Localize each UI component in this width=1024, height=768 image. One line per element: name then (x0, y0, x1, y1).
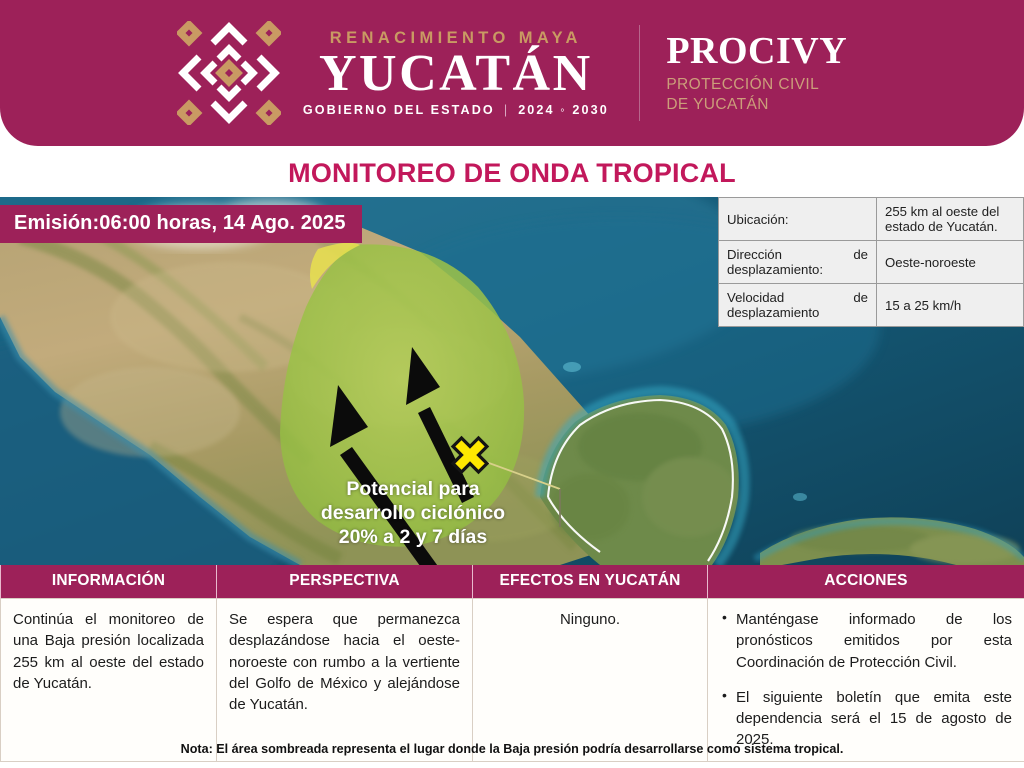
list-item: Manténgase informado de los pronósticos … (720, 609, 1012, 673)
info-value-ubicacion: 255 km al oeste del estado de Yucatán. (877, 198, 1024, 241)
cone-label-line-3: 20% a 2 y 7 días (300, 526, 526, 550)
maya-pattern-logo (177, 21, 281, 125)
emission-banner: Emisión:06:00 horas, 14 Ago. 2025 (0, 205, 362, 243)
bulletin-page: RENACIMIENTO MAYA YUCATÁN GOBIERNO DEL E… (0, 0, 1024, 768)
info-key-ubicacion: Ubicación: (719, 198, 877, 241)
summary-table: INFORMACIÓN PERSPECTIVA EFECTOS EN YUCAT… (0, 565, 1024, 762)
agency-subtitle-line2: DE YUCATÁN (666, 95, 847, 114)
header-divider (639, 25, 641, 121)
footer-note: Nota: El área sombreada representa el lu… (0, 742, 1024, 756)
agency-acronym: PROCIVY (666, 32, 847, 70)
table-row: Velocidad de desplazamiento 15 a 25 km/h (719, 284, 1024, 327)
brand-separator: | (504, 103, 509, 117)
summary-table-header-row: INFORMACIÓN PERSPECTIVA EFECTOS EN YUCAT… (1, 565, 1024, 599)
storm-info-table: Ubicación: 255 km al oeste del estado de… (718, 197, 1024, 327)
cone-label-line-1: Potencial para (300, 478, 526, 502)
brand-state-name: YUCATÁN (319, 49, 593, 100)
acciones-list: Manténgase informado de los pronósticos … (720, 609, 1012, 751)
brand-years: 2024 ◦ 2030 (518, 103, 609, 117)
column-header-perspectiva: PERSPECTIVA (217, 565, 473, 599)
cell-informacion: Continúa el monitoreo de una Baja presió… (1, 599, 217, 762)
cell-acciones: Manténgase informado de los pronósticos … (708, 599, 1024, 762)
satellite-map: Emisión:06:00 horas, 14 Ago. 2025 Potenc… (0, 197, 1024, 565)
cone-label-line-2: desarrollo ciclónico (300, 502, 526, 526)
cone-probability-label: Potencial para desarrollo ciclónico 20% … (300, 478, 526, 549)
column-header-informacion: INFORMACIÓN (1, 565, 217, 599)
info-value-velocidad: 15 a 25 km/h (877, 284, 1024, 327)
cell-perspectiva: Se espera que permanezca desplazándose h… (217, 599, 473, 762)
brand-government-line: GOBIERNO DEL ESTADO | 2024 ◦ 2030 (303, 103, 609, 117)
agency-subtitle-line1: PROTECCIÓN CIVIL (666, 75, 847, 94)
info-key-velocidad: Velocidad de desplazamiento (719, 284, 877, 327)
info-key-direccion: Dirección de desplazamiento: (719, 241, 877, 284)
column-header-efectos: EFECTOS EN YUCATÁN (473, 565, 708, 599)
column-header-acciones: ACCIONES (708, 565, 1024, 599)
agency-brand: PROCIVY PROTECCIÓN CIVIL DE YUCATÁN (666, 32, 847, 114)
page-title: MONITOREO DE ONDA TROPICAL (0, 158, 1024, 189)
info-value-direccion: Oeste-noroeste (877, 241, 1024, 284)
table-row: Ubicación: 255 km al oeste del estado de… (719, 198, 1024, 241)
table-row: Dirección de desplazamiento: Oeste-noroe… (719, 241, 1024, 284)
header-band: RENACIMIENTO MAYA YUCATÁN GOBIERNO DEL E… (0, 0, 1024, 146)
agency-subtitle: PROTECCIÓN CIVIL DE YUCATÁN (666, 75, 847, 114)
cell-efectos: Ninguno. (473, 599, 708, 762)
brand-gobierno-text: GOBIERNO DEL ESTADO (303, 103, 495, 117)
government-brand: RENACIMIENTO MAYA YUCATÁN GOBIERNO DEL E… (177, 21, 609, 125)
summary-table-body-row: Continúa el monitoreo de una Baja presió… (1, 599, 1024, 762)
